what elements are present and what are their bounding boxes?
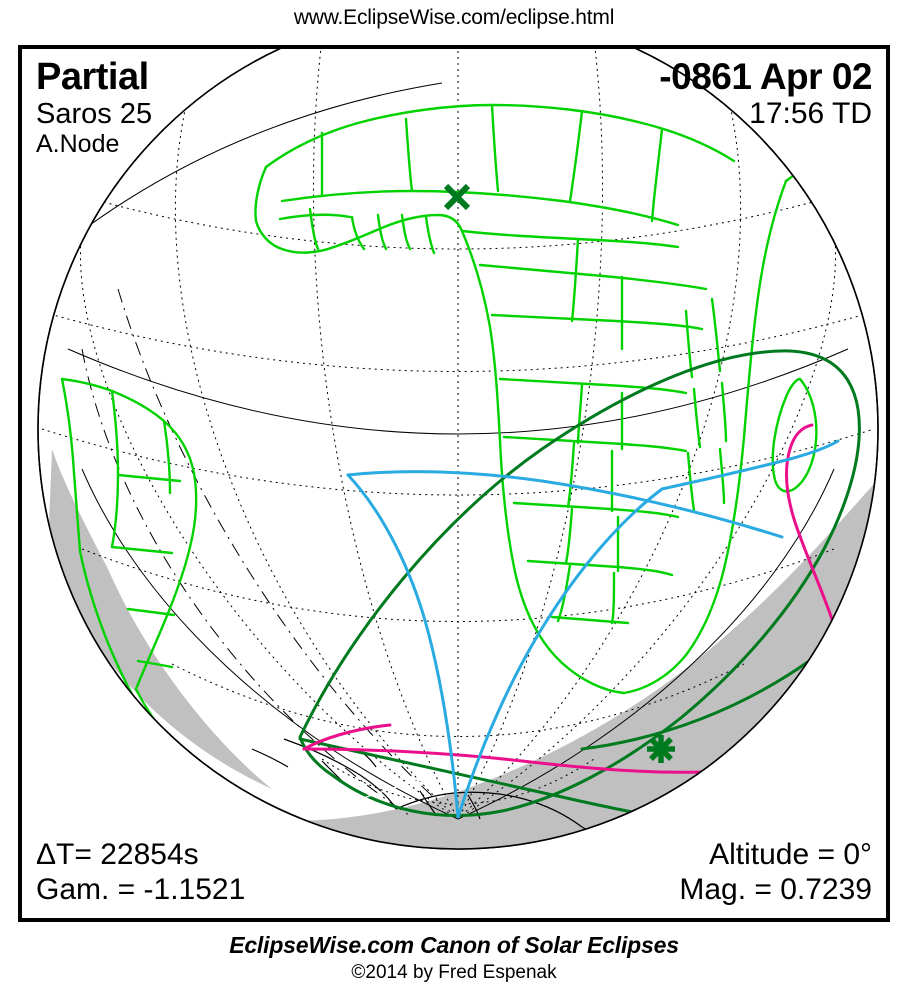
delta-t-label: ΔT= 22854s (36, 839, 245, 871)
eclipse-time-label: 17:56 TD (659, 98, 872, 130)
eclipse-info-bottom-right: Altitude = 0° Mag. = 0.7239 (679, 839, 872, 908)
globe-map (22, 49, 886, 918)
asterisk-marker-icon (647, 735, 675, 763)
gamma-label: Gam. = -1.1521 (36, 874, 245, 906)
node-label: A.Node (36, 131, 152, 158)
eclipse-date-label: -0861 Apr 02 (659, 57, 872, 97)
eclipse-info-top-right: -0861 Apr 02 17:56 TD (659, 57, 872, 130)
footer: EclipseWise.com Canon of Solar Eclipses … (0, 932, 908, 984)
source-url: www.EclipseWise.com/eclipse.html (0, 6, 908, 30)
eclipse-info-bottom-left: ΔT= 22854s Gam. = -1.1521 (36, 839, 245, 908)
magnitude-label: Mag. = 0.7239 (679, 874, 872, 906)
eclipse-type-label: Partial (36, 57, 152, 98)
saros-label: Saros 25 (36, 99, 152, 130)
footer-title: EclipseWise.com Canon of Solar Eclipses (0, 932, 908, 959)
footer-credit: ©2014 by Fred Espenak (0, 962, 908, 984)
eclipse-map-panel: Partial Saros 25 A.Node -0861 Apr 02 17:… (18, 45, 890, 922)
eclipse-info-top-left: Partial Saros 25 A.Node (36, 57, 152, 158)
altitude-label: Altitude = 0° (679, 839, 872, 871)
